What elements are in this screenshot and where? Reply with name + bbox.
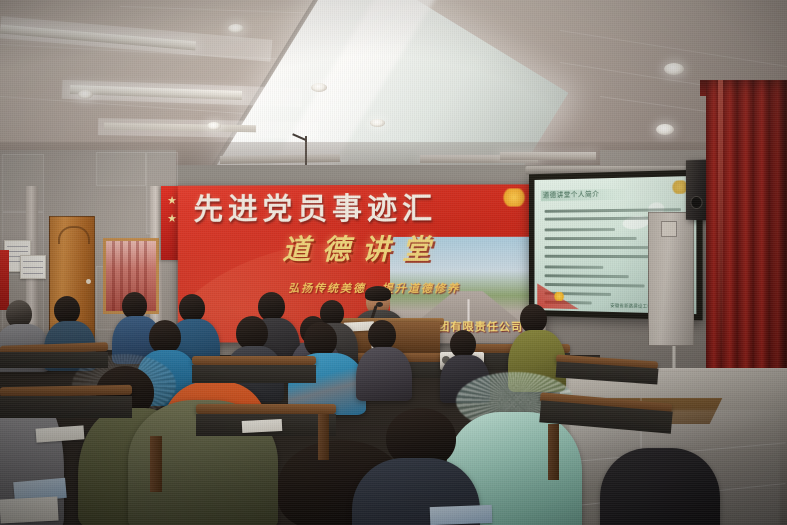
slide-flag-star-icon: [553, 292, 565, 301]
notebook-page: [430, 505, 493, 525]
bench-leg: [318, 414, 329, 460]
ceiling-downlight: [78, 90, 93, 99]
banner-organization: 团有限责任公司: [438, 318, 523, 334]
banner-title: 先进党员事迹汇: [193, 192, 541, 227]
notebook-page: [36, 425, 85, 442]
vertical-red-banner: [0, 250, 9, 310]
wall-notice: [20, 255, 46, 279]
curtain-highlight: [718, 80, 723, 380]
banner-subtitle: 道德讲堂: [282, 234, 442, 266]
ceiling-downlight: [656, 124, 674, 135]
door-knob[interactable]: [86, 279, 91, 284]
door-plate: [661, 221, 677, 237]
bench-leg: [150, 436, 162, 492]
ceiling-downlight: [228, 24, 244, 33]
slide-title: 道德讲堂个人简介: [543, 189, 600, 200]
bench-front-panel: [0, 396, 132, 418]
ceiling-downlight: [311, 83, 327, 92]
wall-loudspeaker: [686, 160, 706, 221]
bench-front-panel: [0, 352, 108, 368]
ceiling-downlight: [664, 63, 684, 75]
door-arch-detail: [58, 226, 90, 244]
bench-front-panel: [192, 365, 316, 383]
notebook-page: [0, 496, 59, 523]
back-wall-door[interactable]: [648, 212, 694, 346]
podium-microphone-head: [376, 302, 383, 307]
bench-leg: [548, 424, 559, 480]
ceiling-downlight: [370, 119, 385, 127]
bench-rail[interactable]: [196, 404, 336, 414]
bench-rail[interactable]: [192, 356, 316, 365]
speaker-cone-icon: [690, 196, 702, 209]
notebook-page: [242, 419, 283, 433]
ceiling-downlight: [207, 122, 221, 130]
conference-hall-photo: ★ ★ 先进党员事迹汇 道德讲堂 弘扬传统美德 · 提升道德修养 团有限责任公司…: [0, 0, 787, 525]
